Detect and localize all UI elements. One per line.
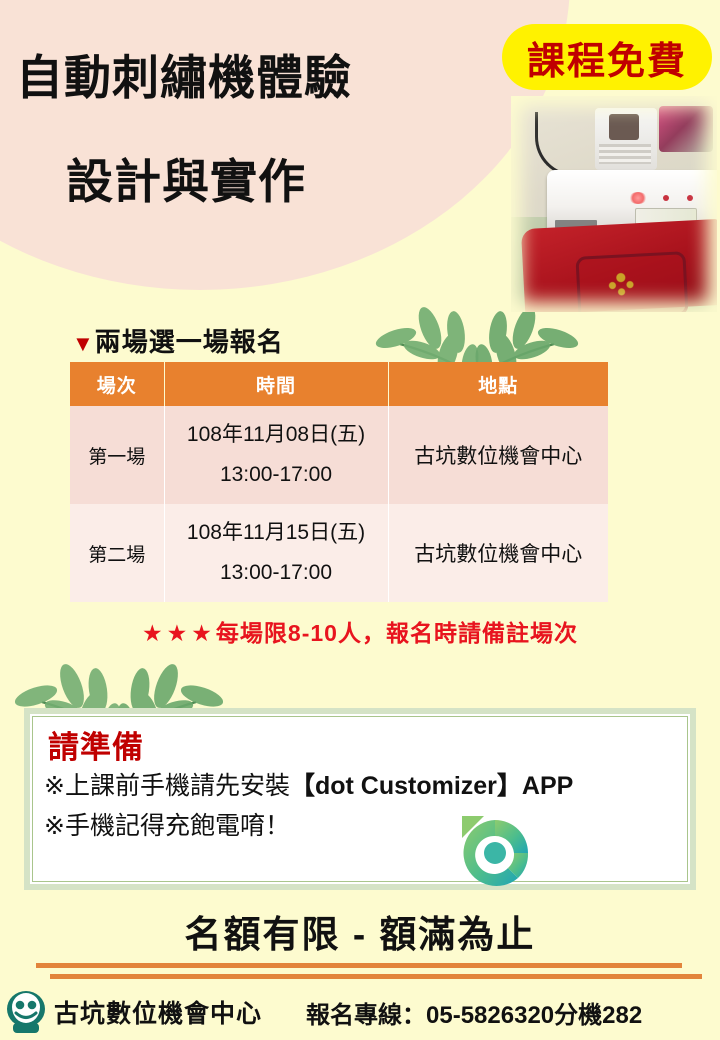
capacity-note-text: 每場限8-10人，報名時請備註場次 [216,620,578,646]
title-line-1: 自動刺繡機體驗 [0,52,500,104]
embroidery-machine-photo [511,96,717,312]
table-header-row: 場次 時間 地點 [70,362,608,406]
capacity-note: ★★★每場限8-10人，報名時請備註場次 [0,614,720,648]
title-line-2: 設計與實作 [0,156,500,208]
cell-time-date: 108年11月08日(五) [166,415,387,455]
free-course-badge: 課程免費 [502,24,712,90]
free-course-badge-label: 課程免費 [527,30,687,85]
dot-customizer-logo-icon [454,814,536,892]
column-header-session: 場次 [70,362,164,406]
cell-time-hours: 13:00-17:00 [166,553,387,593]
divider-rule-bottom [50,974,702,979]
poster-canvas: 自動刺繡機體驗 設計與實作 課程免費 [0,0,720,1040]
star-icons: ★★★ [142,620,216,646]
mascot-logo-icon [4,989,48,1035]
table-row: 第一場 108年11月08日(五) 13:00-17:00 古坑數位機會中心 [70,406,608,504]
cell-time-hours: 13:00-17:00 [166,455,387,495]
footer-org-name: 古坑數位機會中心 [54,994,262,1030]
prepare-box: 請準備 ※上課前手機請先安裝【dot Customizer】APP ※手機記得充… [24,708,696,890]
limited-seats-line: 名額有限 - 額滿為止 [0,904,720,958]
cell-place: 古坑數位機會中心 [388,406,608,504]
table-row: 第二場 108年11月15日(五) 13:00-17:00 古坑數位機會中心 [70,504,608,602]
schedule-table: 場次 時間 地點 第一場 108年11月08日(五) 13:00-17:00 古… [70,362,608,602]
cell-time: 108年11月08日(五) 13:00-17:00 [164,406,388,504]
prepare-line1-app: 【dot Customizer】APP [290,772,573,800]
column-header-place: 地點 [388,362,608,406]
footer: 古坑數位機會中心 報名專線：05-5826320分機282 [0,988,720,1036]
column-header-time: 時間 [164,362,388,406]
divider-rule-top [36,963,682,968]
photo-edge-fade [511,96,717,312]
cell-session: 第一場 [70,406,164,504]
poster-title: 自動刺繡機體驗 設計與實作 [0,52,500,207]
prepare-box-title: 請準備 [48,722,144,767]
cell-session: 第二場 [70,504,164,602]
cell-time: 108年11月15日(五) 13:00-17:00 [164,504,388,602]
prepare-box-line-2: ※手機記得充飽電唷！ [44,806,290,842]
section-heading-label: 兩場選一場報名 [95,327,284,357]
section-heading: ▼兩場選一場報名 [72,322,284,359]
cell-time-date: 108年11月15日(五) [166,513,387,553]
triangle-marker-icon: ▼ [72,331,95,356]
prepare-line1-prefix: ※上課前手機請先安裝 [44,772,290,800]
prepare-box-line-1: ※上課前手機請先安裝【dot Customizer】APP [44,766,573,802]
cell-place: 古坑數位機會中心 [388,504,608,602]
footer-phone: 報名專線：05-5826320分機282 [306,995,642,1030]
